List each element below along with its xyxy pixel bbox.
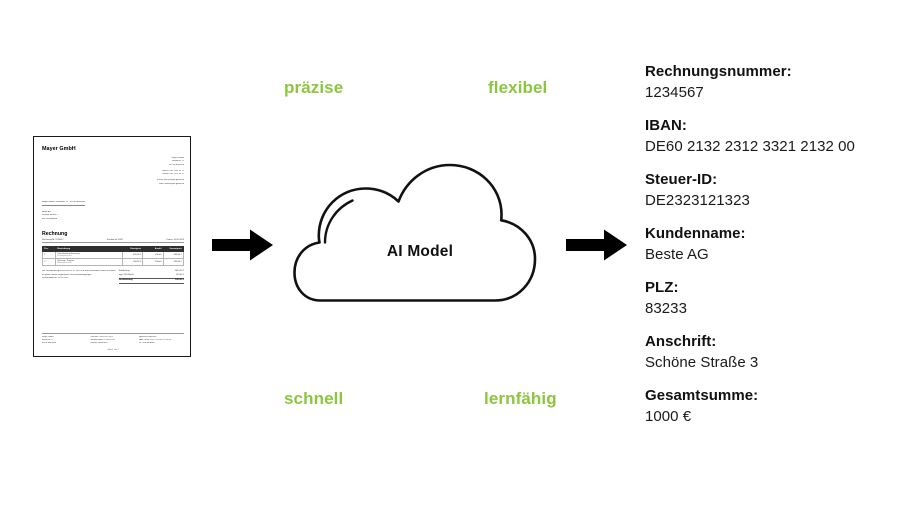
field-label: Rechnungsnummer: [645,62,895,81]
invoice-footer: Mayer GmbH Musterstr. 12 81234 München U… [42,333,184,351]
invoice-lower-section: Der Gesamtbetrag ist bis zum 31.07.2023 … [42,270,184,284]
field-value: Schöne Straße 3 [645,353,895,372]
field-steuer-id: Steuer-ID: DE2323121323 [645,170,895,210]
extracted-fields-list: Rechnungsnummer: 1234567 IBAN: DE60 2132… [645,62,895,426]
keyword-flexibel: flexibel [488,78,547,98]
field-value: DE2323121323 [645,191,895,210]
keyword-lernfaehig: lernfähig [484,389,557,409]
field-plz: PLZ: 83233 [645,278,895,318]
invoice-meta-row: Rechnung-Nr. 1234567 Kunden-Nr. 4982 Dat… [42,239,184,243]
invoice-table-row: 1 Dienstleistung Beratung Projektphase e… [43,252,184,259]
keyword-praezise: präzise [284,78,343,98]
invoice-footer-column: USt-IdNr.: DE2323121323 Steuernummer: 14… [90,336,135,345]
invoice-document: Mayer GmbH Mayer GmbH Musterstr. 12 8123… [33,136,191,357]
diagram-canvas: präzise flexibel schnell lernfähig Mayer… [0,0,899,506]
cloud-label: AI Model [292,243,548,261]
invoice-totals: Nettobetrag 1000,00 € zzgl. 19% MwSt. 19… [119,270,184,284]
field-label: Gesamtsumme: [645,386,895,405]
field-value: DE60 2132 2312 3321 2132 00 [645,137,895,156]
invoice-number-meta: Rechnung-Nr. 1234567 [42,239,64,241]
invoice-recipient-block: Mayer GmbH · Musterstr. 12 · 81234 Münch… [42,193,184,221]
keyword-schnell: schnell [284,389,343,409]
field-label: PLZ: [645,278,895,297]
arrow-right-icon [212,228,274,262]
invoice-page-number: Seite 1 von 1 [42,349,184,351]
invoice-footer-column: Mayer GmbH Musterstr. 12 81234 München [42,336,87,345]
invoice-sender-block: Mayer GmbH Musterstr. 12 81234 München T… [42,157,184,186]
field-gesamtsumme: Gesamtsumme: 1000 € [645,386,895,426]
arrow-right-icon [566,228,628,262]
field-label: Steuer-ID: [645,170,895,189]
customer-number-meta: Kunden-Nr. 4982 [107,239,123,241]
invoice-terms: Der Gesamtbetrag ist bis zum 31.07.2023 … [42,270,116,280]
field-value: 83233 [645,299,895,318]
invoice-footer-divider [42,333,184,334]
invoice-table-row: 2 Wartung / Support Monatspauschale 550,… [43,259,184,266]
field-rechnungsnummer: Rechnungsnummer: 1234567 [645,62,895,102]
field-iban: IBAN: DE60 2132 2312 3321 2132 00 [645,116,895,156]
field-value: 1000 € [645,407,895,426]
field-label: IBAN: [645,116,895,135]
invoice-title: Rechnung [42,231,184,237]
invoice-company-name: Mayer GmbH [42,146,184,152]
invoice-date-meta: Datum: 10.05.2023 [166,239,184,241]
invoice-total-row: zzgl. 19% MwSt. 190,00 € [119,274,184,277]
field-anschrift: Anschrift: Schöne Straße 3 [645,332,895,372]
field-kundenname: Kundenname: Beste AG [645,224,895,264]
field-label: Kundenname: [645,224,895,243]
cloud-icon [292,152,548,302]
field-value: 1234567 [645,83,895,102]
invoice-items-table: Pos. Bezeichnung Einzelpreis Anzahl Gesa… [42,246,184,266]
invoice-grand-total-row: Gesamtbetrag 1190,00 € [119,278,184,284]
field-label: Anschrift: [645,332,895,351]
field-value: Beste AG [645,245,895,264]
invoice-footer-column: Sparkasse München IBAN: DE60 2132 2312 3… [139,336,184,345]
